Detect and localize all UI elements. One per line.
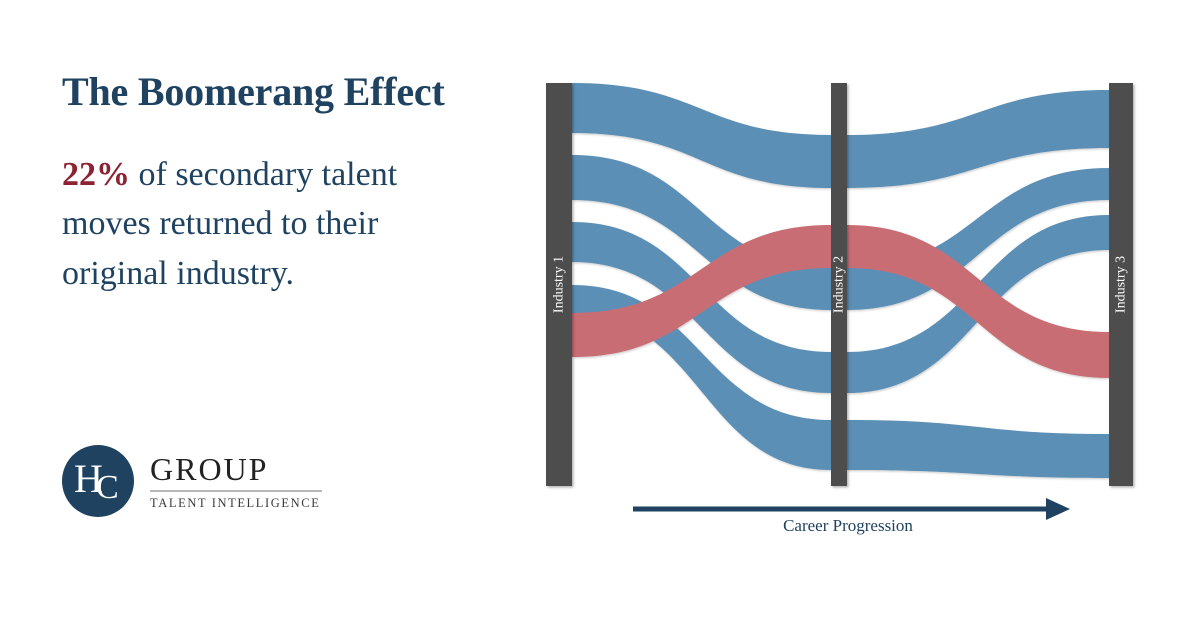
sankey-node-industry3: Industry 3 xyxy=(1109,83,1133,486)
sankey-flow xyxy=(847,420,1109,478)
axis-caption: Career Progression xyxy=(633,516,1063,536)
infographic-canvas: The Boomerang Effect 22% of secondary ta… xyxy=(0,0,1200,627)
sankey-node-industry1: Industry 1 xyxy=(546,83,572,486)
sankey-node-label: Industry 3 xyxy=(1114,256,1129,313)
sankey-node-industry2: Industry 2 xyxy=(831,83,847,486)
sankey-node-label: Industry 2 xyxy=(832,256,847,313)
sankey-node-label: Industry 1 xyxy=(552,256,567,313)
